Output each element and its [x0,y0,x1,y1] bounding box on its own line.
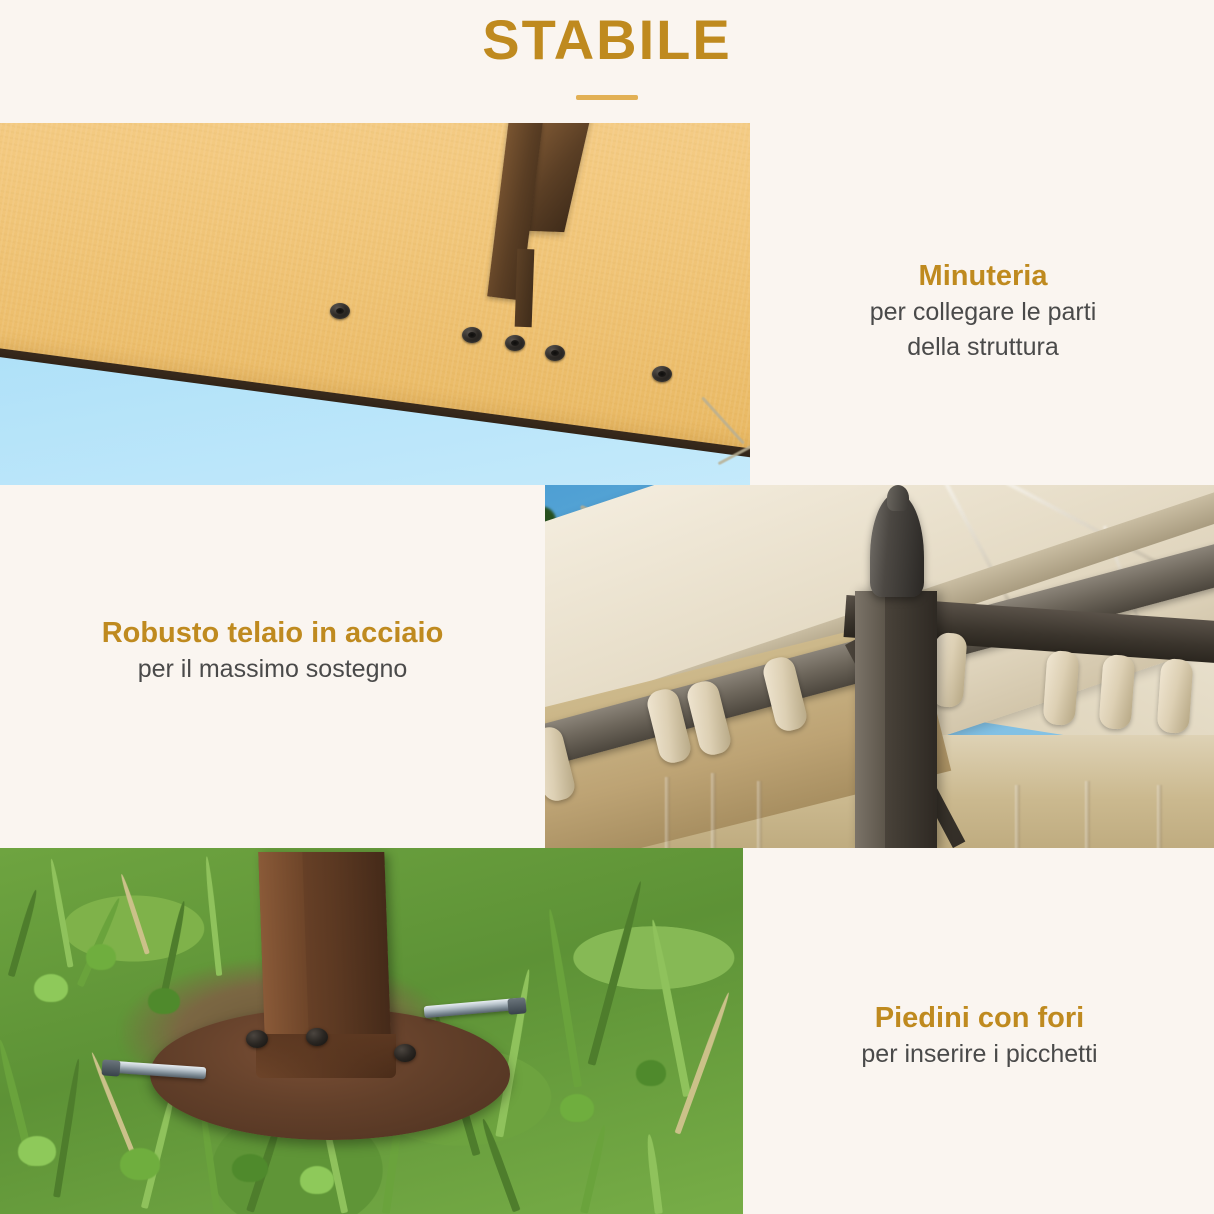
ground-stake-head [101,1059,120,1076]
caption-piedini: Piedini con fori per inserire i picchett… [745,1000,1214,1072]
caption-telaio: Robusto telaio in acciaio per il massimo… [0,615,545,687]
caption-title: Robusto telaio in acciaio [0,615,545,652]
clover-leaf [34,974,68,1002]
curtain-fold [1157,785,1162,848]
caption-title: Piedini con fori [745,1000,1214,1037]
post-foot-stake-photo [0,848,743,1214]
clover-leaf [560,1094,594,1122]
bolt-icon [246,1030,268,1048]
header: STABILE [0,0,1214,123]
clover-leaf [232,1154,268,1182]
bolt-icon [462,327,482,343]
curtain-fold [665,777,670,848]
caption-line: della struttura [752,330,1214,365]
curtain-loop [1098,654,1135,730]
clover-leaf [300,1166,334,1194]
clover-leaf [636,1060,666,1086]
caption-title: Minuteria [752,258,1214,295]
curtain-loop [1156,658,1193,734]
finial-tip [887,485,909,511]
curtain-loop [1042,650,1079,726]
clover-leaf [18,1136,56,1166]
curtain-fold [757,781,762,848]
caption-line: per collegare le parti [752,295,1214,330]
bolt-icon [330,303,350,319]
curtain-fold [1085,781,1090,848]
bolt-icon [394,1044,416,1062]
clover-leaf [86,944,116,970]
bolt-icon [545,345,565,361]
bolt-icon [306,1028,328,1046]
clover-leaf [148,988,180,1014]
bracket-lower-arm [515,249,535,328]
bolt-icon [652,366,672,382]
page-title: STABILE [0,12,1214,68]
caption-line: per inserire i picchetti [745,1037,1214,1072]
bolt-icon [505,335,525,351]
ground-stake-head [507,997,526,1015]
gazebo-post-face [258,852,309,1064]
clover-leaf [120,1148,160,1180]
caption-minuteria: Minuteria per collegare le parti della s… [752,258,1214,364]
infographic-page: STABILE [0,0,1214,1214]
title-divider [576,95,638,100]
curtain-fold [711,773,716,848]
steel-frame-post-photo [545,485,1214,848]
curtain-fold [1015,785,1020,848]
corner-post-face [855,591,885,848]
canopy-corner-hardware-photo [0,123,750,485]
caption-line: per il massimo sostegno [0,652,545,687]
